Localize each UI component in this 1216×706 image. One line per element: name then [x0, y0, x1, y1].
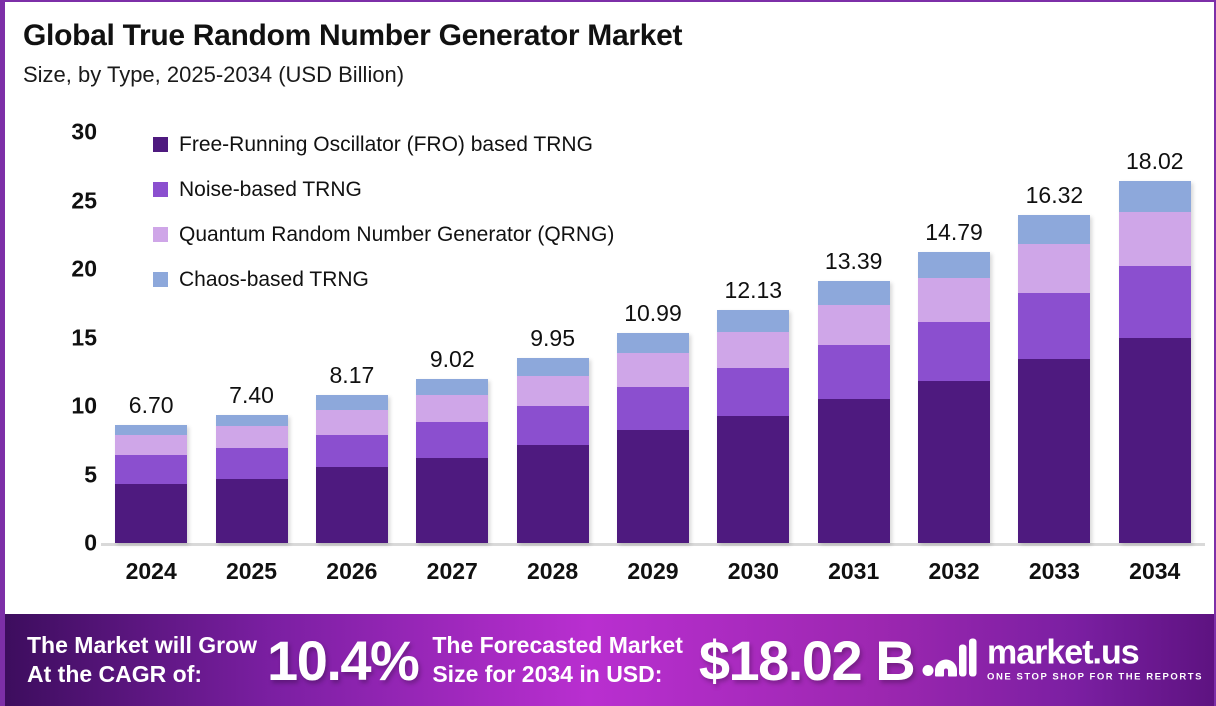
bar-stack	[517, 358, 589, 543]
bar-total-label: 13.39	[825, 248, 883, 275]
bar-stack	[416, 379, 488, 543]
bar-column[interactable]: 13.39	[804, 112, 904, 543]
bar-segment	[216, 479, 288, 543]
bar-segment	[617, 387, 689, 431]
legend-swatch-icon	[153, 272, 168, 287]
bar-segment	[1018, 293, 1090, 359]
x-axis-tick: 2030	[703, 558, 803, 585]
forecast-label-line1: The Forecasted Market	[432, 631, 683, 660]
bar-segment	[316, 410, 388, 435]
bar-total-label: 9.95	[530, 325, 575, 352]
bar-segment	[416, 458, 488, 543]
x-axis-tick: 2025	[202, 558, 302, 585]
x-axis-baseline	[101, 543, 1205, 546]
bar-segment	[517, 406, 589, 445]
chart-legend: Free-Running Oscillator (FRO) based TRNG…	[153, 122, 773, 302]
bar-segment	[617, 353, 689, 387]
bar-segment	[115, 455, 187, 484]
bar-segment	[1119, 212, 1191, 266]
page-subtitle: Size, by Type, 2025-2034 (USD Billion)	[23, 58, 1123, 92]
bar-segment	[216, 426, 288, 448]
legend-swatch-icon	[153, 182, 168, 197]
bar-segment	[517, 358, 589, 376]
bar-segment	[216, 448, 288, 479]
x-axis: 2024202520262027202820292030203120322033…	[101, 553, 1205, 589]
x-axis-tick: 2031	[804, 558, 904, 585]
cagr-label-line1: The Market will Grow	[27, 631, 257, 660]
bar-total-label: 6.70	[129, 392, 174, 419]
legend-item[interactable]: Noise-based TRNG	[153, 167, 773, 212]
bar-stack	[717, 310, 789, 543]
y-axis-tick: 30	[35, 119, 97, 146]
bar-segment	[216, 415, 288, 426]
bar-segment	[1119, 338, 1191, 543]
bar-segment	[316, 435, 388, 467]
legend-label: Free-Running Oscillator (FRO) based TRNG	[179, 133, 593, 157]
bar-stack	[617, 333, 689, 543]
bar-segment	[1119, 181, 1191, 212]
page-title: Global True Random Number Generator Mark…	[23, 16, 1123, 56]
bar-stack	[1119, 181, 1191, 543]
y-axis: 051015202530	[35, 112, 97, 552]
legend-label: Noise-based TRNG	[179, 178, 362, 202]
bar-segment	[1018, 359, 1090, 543]
bottom-banner: The Market will Grow At the CAGR of: 10.…	[5, 614, 1216, 706]
bar-segment	[115, 425, 187, 435]
legend-swatch-icon	[153, 137, 168, 152]
bar-segment	[1018, 215, 1090, 244]
bar-segment	[818, 345, 890, 398]
bar-total-label: 18.02	[1126, 148, 1184, 175]
bar-segment	[416, 379, 488, 395]
bar-stack	[818, 281, 890, 543]
legend-item[interactable]: Free-Running Oscillator (FRO) based TRNG	[153, 122, 773, 167]
bar-segment	[115, 484, 187, 543]
bar-segment	[717, 416, 789, 543]
bar-segment	[818, 305, 890, 345]
bar-segment	[115, 435, 187, 455]
y-axis-tick: 25	[35, 187, 97, 214]
bar-total-label: 9.02	[430, 346, 475, 373]
logo-text: market.us ONE STOP SHOP FOR THE REPORTS	[987, 636, 1203, 685]
legend-label: Quantum Random Number Generator (QRNG)	[179, 223, 614, 247]
x-axis-tick: 2029	[603, 558, 703, 585]
bar-stack	[918, 252, 990, 543]
x-axis-tick: 2027	[402, 558, 502, 585]
cagr-label: The Market will Grow At the CAGR of:	[27, 631, 257, 689]
chart-infographic: Global True Random Number Generator Mark…	[0, 0, 1216, 706]
bar-segment	[818, 281, 890, 305]
bar-segment	[416, 395, 488, 422]
x-axis-tick: 2024	[101, 558, 201, 585]
bar-segment	[818, 399, 890, 543]
y-axis-tick: 0	[35, 530, 97, 557]
bar-stack	[115, 425, 187, 543]
bar-segment	[517, 376, 589, 406]
logo-tagline: ONE STOP SHOP FOR THE REPORTS	[987, 671, 1203, 685]
bar-segment	[1119, 266, 1191, 338]
y-axis-tick: 15	[35, 324, 97, 351]
bar-total-label: 10.99	[624, 300, 682, 327]
bar-segment	[316, 467, 388, 543]
bar-segment	[717, 368, 789, 416]
bar-segment	[617, 333, 689, 353]
bar-segment	[918, 252, 990, 278]
bar-segment	[517, 445, 589, 543]
bar-column[interactable]: 18.02	[1105, 112, 1205, 543]
legend-label: Chaos-based TRNG	[179, 268, 369, 292]
bar-stack	[316, 395, 388, 543]
bar-segment	[918, 322, 990, 380]
bar-total-label: 7.40	[229, 382, 274, 409]
x-axis-tick: 2034	[1105, 558, 1205, 585]
cagr-label-line2: At the CAGR of:	[27, 660, 257, 689]
bar-segment	[918, 381, 990, 543]
legend-swatch-icon	[153, 227, 168, 242]
y-axis-tick: 5	[35, 461, 97, 488]
bar-segment	[717, 332, 789, 369]
bar-stack	[1018, 215, 1090, 543]
bar-column[interactable]: 16.32	[1004, 112, 1104, 543]
bar-segment	[416, 422, 488, 457]
title-block: Global True Random Number Generator Mark…	[23, 16, 1123, 92]
x-axis-tick: 2033	[1004, 558, 1104, 585]
y-axis-tick: 20	[35, 256, 97, 283]
x-axis-tick: 2028	[503, 558, 603, 585]
bar-column[interactable]: 14.79	[904, 112, 1004, 543]
logo-name: market.us	[987, 636, 1203, 670]
y-axis-tick: 10	[35, 393, 97, 420]
x-axis-tick: 2026	[302, 558, 402, 585]
market-us-logo[interactable]: market.us ONE STOP SHOP FOR THE REPORTS	[921, 636, 1203, 685]
legend-item[interactable]: Quantum Random Number Generator (QRNG)	[153, 212, 773, 257]
bar-stack	[216, 415, 288, 543]
bar-segment	[1018, 244, 1090, 293]
bar-chart-logo-icon	[921, 637, 977, 684]
bar-total-label: 14.79	[925, 219, 983, 246]
bar-segment	[316, 395, 388, 410]
cagr-value: 10.4%	[267, 628, 418, 693]
forecast-label: The Forecasted Market Size for 2034 in U…	[432, 631, 683, 689]
forecast-label-line2: Size for 2034 in USD:	[432, 660, 683, 689]
bar-total-label: 16.32	[1026, 182, 1084, 209]
x-axis-tick: 2032	[904, 558, 1004, 585]
bar-segment	[918, 278, 990, 322]
legend-item[interactable]: Chaos-based TRNG	[153, 257, 773, 302]
bar-total-label: 8.17	[330, 362, 375, 389]
bar-segment	[617, 430, 689, 543]
bar-segment	[717, 310, 789, 332]
forecast-value: $18.02 B	[699, 628, 914, 693]
